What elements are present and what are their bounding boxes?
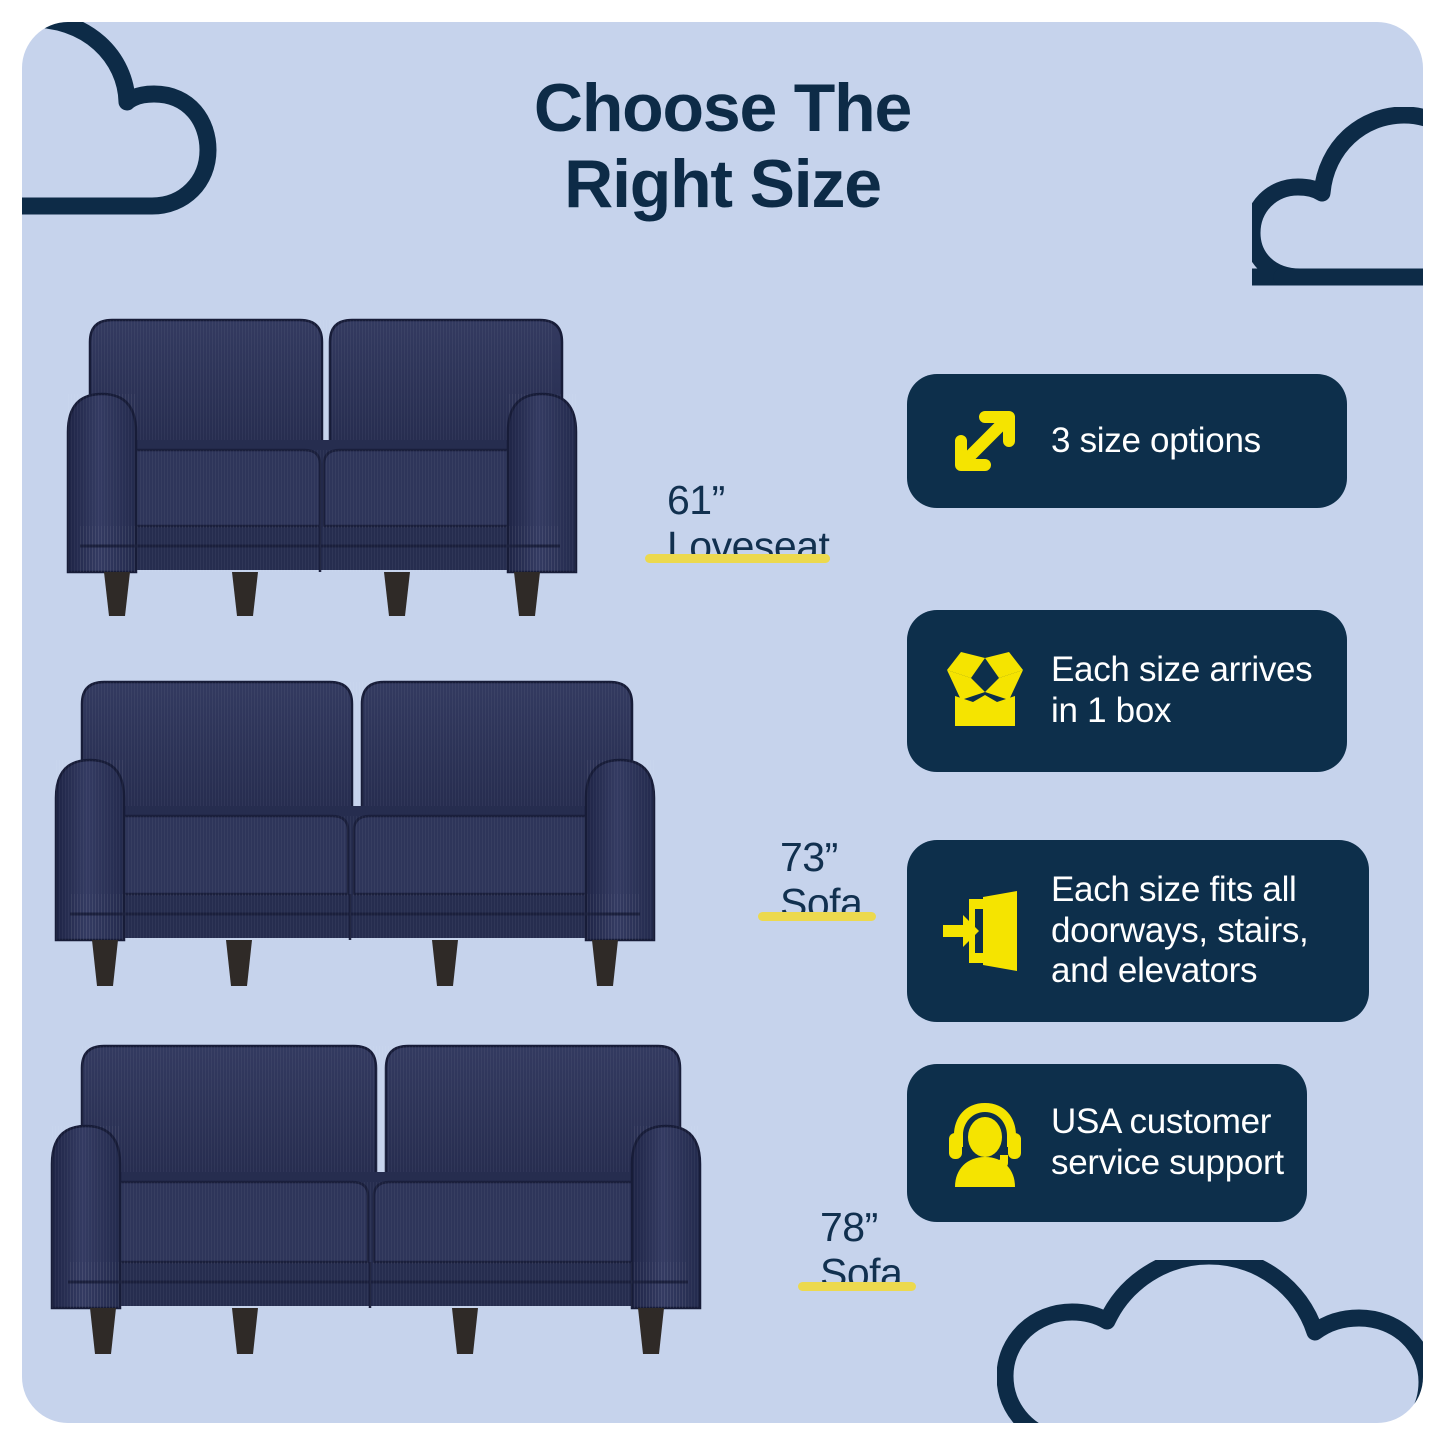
page-title-line-1: Choose The (534, 70, 911, 146)
size-value-73: 73” (780, 834, 862, 880)
headset-support-icon (937, 1097, 1033, 1189)
page-title-line-2: Right Size (22, 146, 1423, 222)
feature-card-text: 3 size options (1051, 421, 1261, 462)
cloud-bottom-right-icon (997, 1260, 1423, 1423)
infographic-root: Choose The Right Size (0, 0, 1445, 1445)
feature-line: and elevators (1051, 951, 1309, 992)
infographic-canvas: Choose The Right Size (22, 22, 1423, 1423)
size-value-78: 78” (820, 1204, 902, 1250)
product-image-sofa-78 (46, 1010, 816, 1362)
feature-line: Each size fits all (1051, 870, 1309, 911)
size-value-61: 61” (667, 477, 829, 523)
open-box-icon (937, 648, 1033, 734)
size-rule-sofa-73 (758, 912, 876, 921)
page-title: Choose The Right Size (22, 70, 1423, 222)
product-image-loveseat-61 (62, 280, 682, 628)
size-rule-loveseat-61 (645, 554, 830, 563)
product-image-sofa-73 (50, 644, 760, 994)
feature-card-text: Each size arrives in 1 box (1051, 650, 1312, 732)
feature-card-text: Each size fits all doorways, stairs, and… (1051, 870, 1309, 993)
doorway-entry-icon (937, 885, 1033, 977)
feature-card-fits-doorways[interactable]: Each size fits all doorways, stairs, and… (907, 840, 1369, 1022)
resize-arrows-icon (937, 399, 1033, 483)
feature-line: in 1 box (1051, 691, 1312, 732)
size-rule-sofa-78 (798, 1282, 916, 1291)
feature-card-usa-support[interactable]: USA customer service support (907, 1064, 1307, 1222)
feature-line: service support (1051, 1143, 1284, 1184)
feature-card-text: USA customer service support (1051, 1102, 1284, 1184)
feature-card-size-options[interactable]: 3 size options (907, 374, 1347, 508)
feature-card-one-box[interactable]: Each size arrives in 1 box (907, 610, 1347, 772)
feature-line: Each size arrives (1051, 650, 1312, 691)
feature-line: doorways, stairs, (1051, 911, 1309, 952)
feature-line: 3 size options (1051, 421, 1261, 462)
feature-line: USA customer (1051, 1102, 1284, 1143)
